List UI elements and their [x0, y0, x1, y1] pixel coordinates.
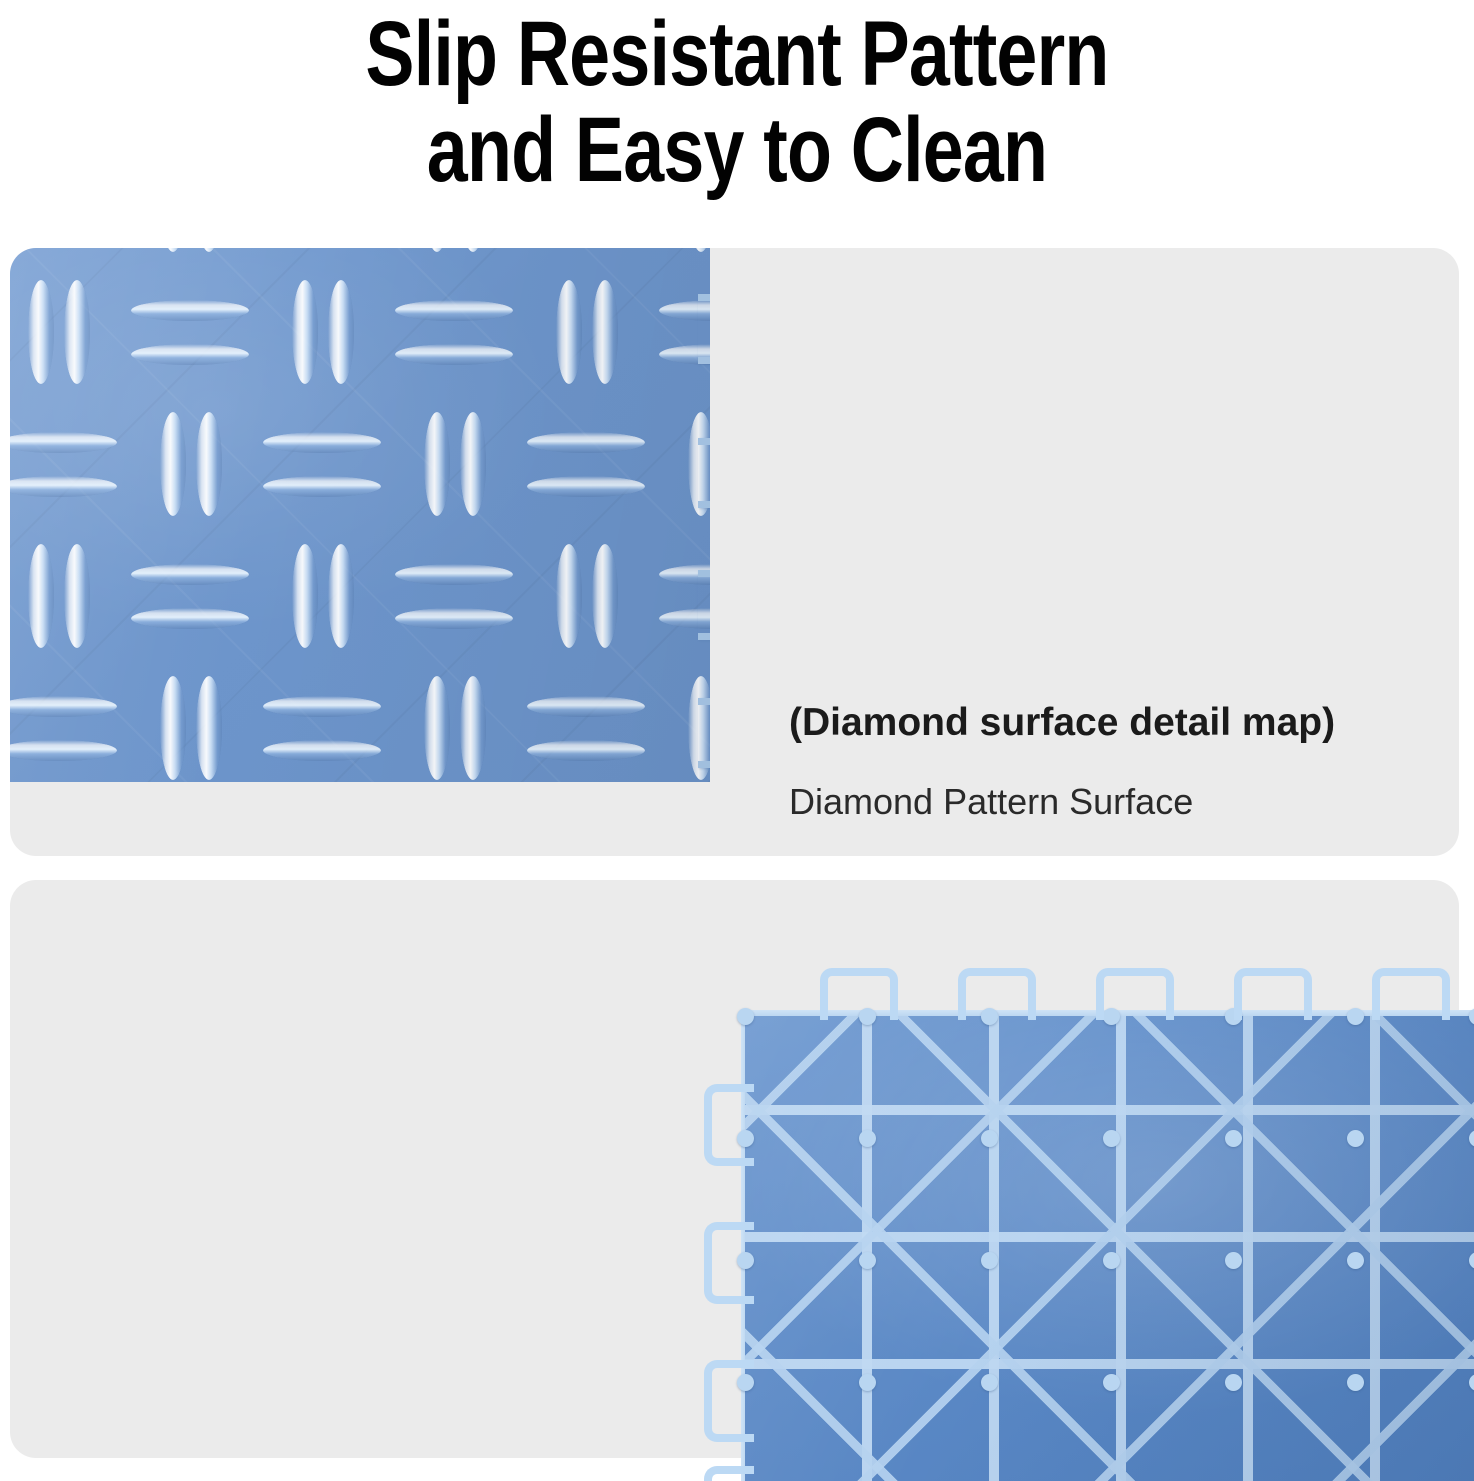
- page-title-line-2: and Easy to Clean: [147, 102, 1326, 198]
- interlock-tab: [1234, 968, 1312, 1020]
- grid-node: [1225, 1374, 1242, 1391]
- grid-node: [981, 1252, 998, 1269]
- tread-lens: [64, 280, 90, 384]
- tread-lens: [395, 564, 513, 585]
- tread-lens: [395, 608, 513, 629]
- interlock-tab: [698, 570, 710, 640]
- surface-caption-body: Diamond Pattern Surface: [789, 778, 1439, 825]
- grid-node: [1347, 1374, 1364, 1391]
- tile-underside-photo: [690, 965, 1474, 1481]
- tread-lens: [10, 432, 117, 453]
- interlock-tab: [1096, 968, 1174, 1020]
- tread-lens: [527, 476, 645, 497]
- tread-lens: [292, 280, 318, 384]
- page-title: Slip Resistant Pattern and Easy to Clean: [0, 0, 1474, 215]
- tread-lens: [424, 676, 450, 780]
- tread-lens: [395, 300, 513, 321]
- tread-lens: [10, 476, 117, 497]
- tread-lens: [460, 676, 486, 780]
- surface-panel: (Diamond surface detail map) Diamond Pat…: [10, 248, 1459, 856]
- tread-lens: [10, 696, 117, 717]
- grid-diagonal-ribs: [745, 1016, 1474, 1481]
- tread-lens: [131, 608, 249, 629]
- tread-lens: [160, 676, 186, 780]
- tread-lens: [460, 412, 486, 516]
- tread-lens: [28, 544, 54, 648]
- tread-lens: [395, 344, 513, 365]
- grid-node: [1347, 1252, 1364, 1269]
- tread-lens: [424, 248, 450, 252]
- tread-lens: [131, 564, 249, 585]
- interlock-tab: [704, 1360, 754, 1442]
- interlock-tab: [958, 968, 1036, 1020]
- tread-lens: [263, 476, 381, 497]
- grid-node: [859, 1374, 876, 1391]
- tread-lens: [160, 412, 186, 516]
- diamond-plate-surface-photo: [10, 248, 710, 782]
- grid-node: [981, 1374, 998, 1391]
- grid-node: [1225, 1130, 1242, 1147]
- tread-lens: [328, 280, 354, 384]
- tread-lens: [292, 544, 318, 648]
- tread-lens: [64, 544, 90, 648]
- interlock-tab: [1372, 968, 1450, 1020]
- grid-node: [1347, 1130, 1364, 1147]
- tile-grid-lattice: [745, 1016, 1474, 1481]
- tread-lens: [460, 248, 486, 252]
- grid-node: [1103, 1374, 1120, 1391]
- surface-caption: (Diamond surface detail map) Diamond Pat…: [789, 700, 1439, 825]
- interlock-tab: [698, 438, 710, 508]
- grid-node: [1103, 1130, 1120, 1147]
- tread-lens: [28, 280, 54, 384]
- tread-lens: [263, 740, 381, 761]
- tread-lens: [160, 248, 186, 252]
- tread-lens: [556, 280, 582, 384]
- tread-lens: [592, 544, 618, 648]
- grid-node: [1103, 1252, 1120, 1269]
- tread-lens: [556, 544, 582, 648]
- interlock-tab: [704, 1222, 754, 1304]
- tread-lens: [688, 248, 710, 252]
- tread-lens: [424, 412, 450, 516]
- grid-node: [1225, 1252, 1242, 1269]
- surface-caption-title: (Diamond surface detail map): [789, 700, 1439, 746]
- grid-node: [737, 1008, 754, 1025]
- interlock-tab: [698, 294, 710, 364]
- tread-lens: [196, 412, 222, 516]
- tread-lens: [131, 344, 249, 365]
- interlock-tab: [698, 698, 710, 768]
- page-title-line-1: Slip Resistant Pattern: [147, 6, 1326, 102]
- tread-lens: [196, 248, 222, 252]
- tread-lens: [527, 696, 645, 717]
- tread-lens: [263, 696, 381, 717]
- interlock-tab: [704, 1466, 754, 1481]
- diamond-tread-pattern: [10, 248, 710, 782]
- tread-lens: [592, 280, 618, 384]
- grid-node: [981, 1130, 998, 1147]
- tread-lens: [196, 676, 222, 780]
- interlock-tab: [704, 1084, 754, 1166]
- tread-lens: [527, 432, 645, 453]
- tread-lens: [263, 432, 381, 453]
- grid-node: [859, 1252, 876, 1269]
- tread-lens: [10, 740, 117, 761]
- tread-lens: [131, 300, 249, 321]
- tread-lens: [328, 544, 354, 648]
- interlock-tab: [820, 968, 898, 1020]
- grid-node: [859, 1130, 876, 1147]
- grid-node: [1347, 1008, 1364, 1025]
- tread-lens: [527, 740, 645, 761]
